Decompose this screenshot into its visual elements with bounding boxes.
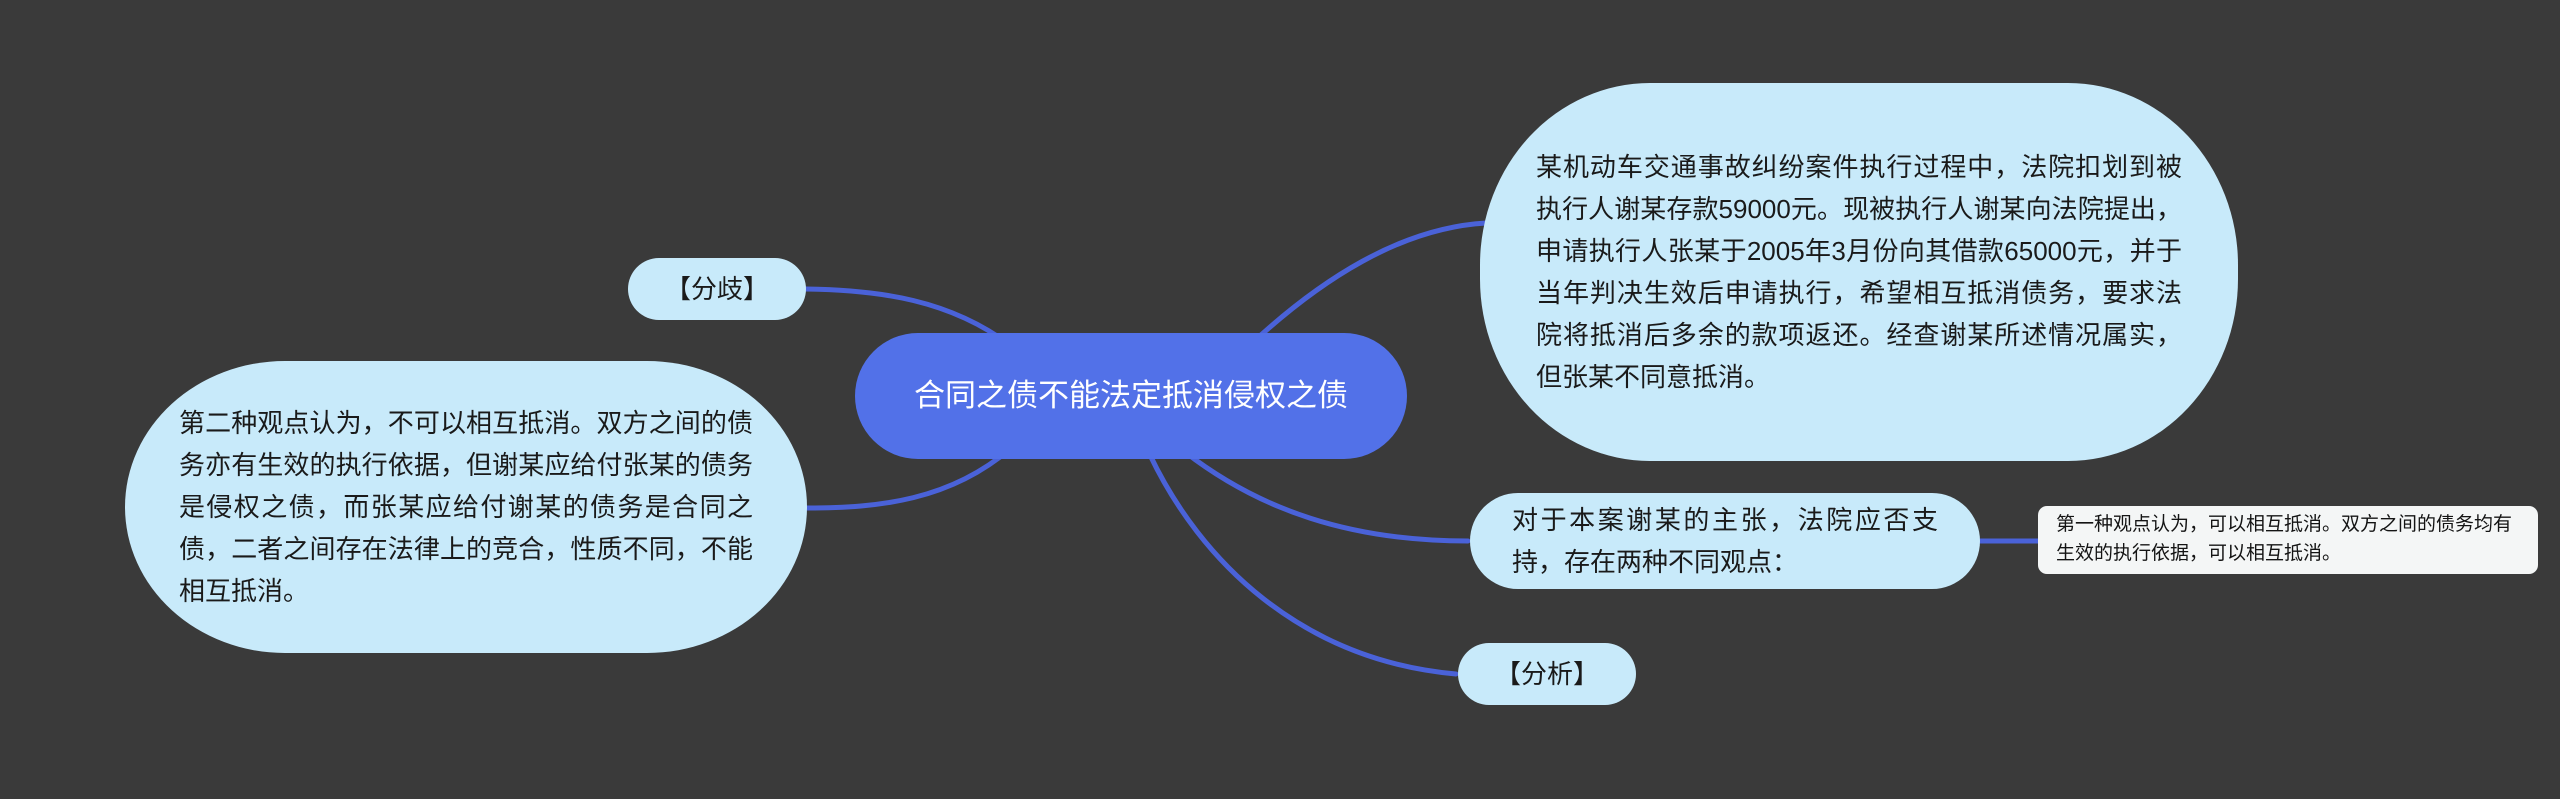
node-issue-question[interactable]: 对于本案谢某的主张，法院应否支持，存在两种不同观点： — [1470, 493, 1980, 589]
node-divergence[interactable]: 【分歧】 — [628, 258, 806, 320]
node-first-view[interactable]: 第一种观点认为，可以相互抵消。双方之间的债务均有生效的执行依据，可以相互抵消。 — [2038, 506, 2538, 574]
edge-root-to-issue — [1185, 452, 1468, 541]
mindmap-canvas: 合同之债不能法定抵消侵权之债 【分歧】 某机动车交通事故纠纷案件执行过程中，法院… — [0, 0, 2560, 799]
root-node[interactable]: 合同之债不能法定抵消侵权之债 — [855, 333, 1407, 459]
node-case-description[interactable]: 某机动车交通事故纠纷案件执行过程中，法院扣划到被执行人谢某存款59000元。现被… — [1480, 83, 2238, 461]
node-second-view[interactable]: 第二种观点认为，不可以相互抵消。双方之间的债务亦有生效的执行依据，但谢某应给付张… — [125, 361, 807, 653]
edge-root-to-analysis — [1150, 455, 1456, 674]
node-analysis[interactable]: 【分析】 — [1458, 643, 1636, 705]
edge-root-to-case — [1250, 223, 1486, 345]
